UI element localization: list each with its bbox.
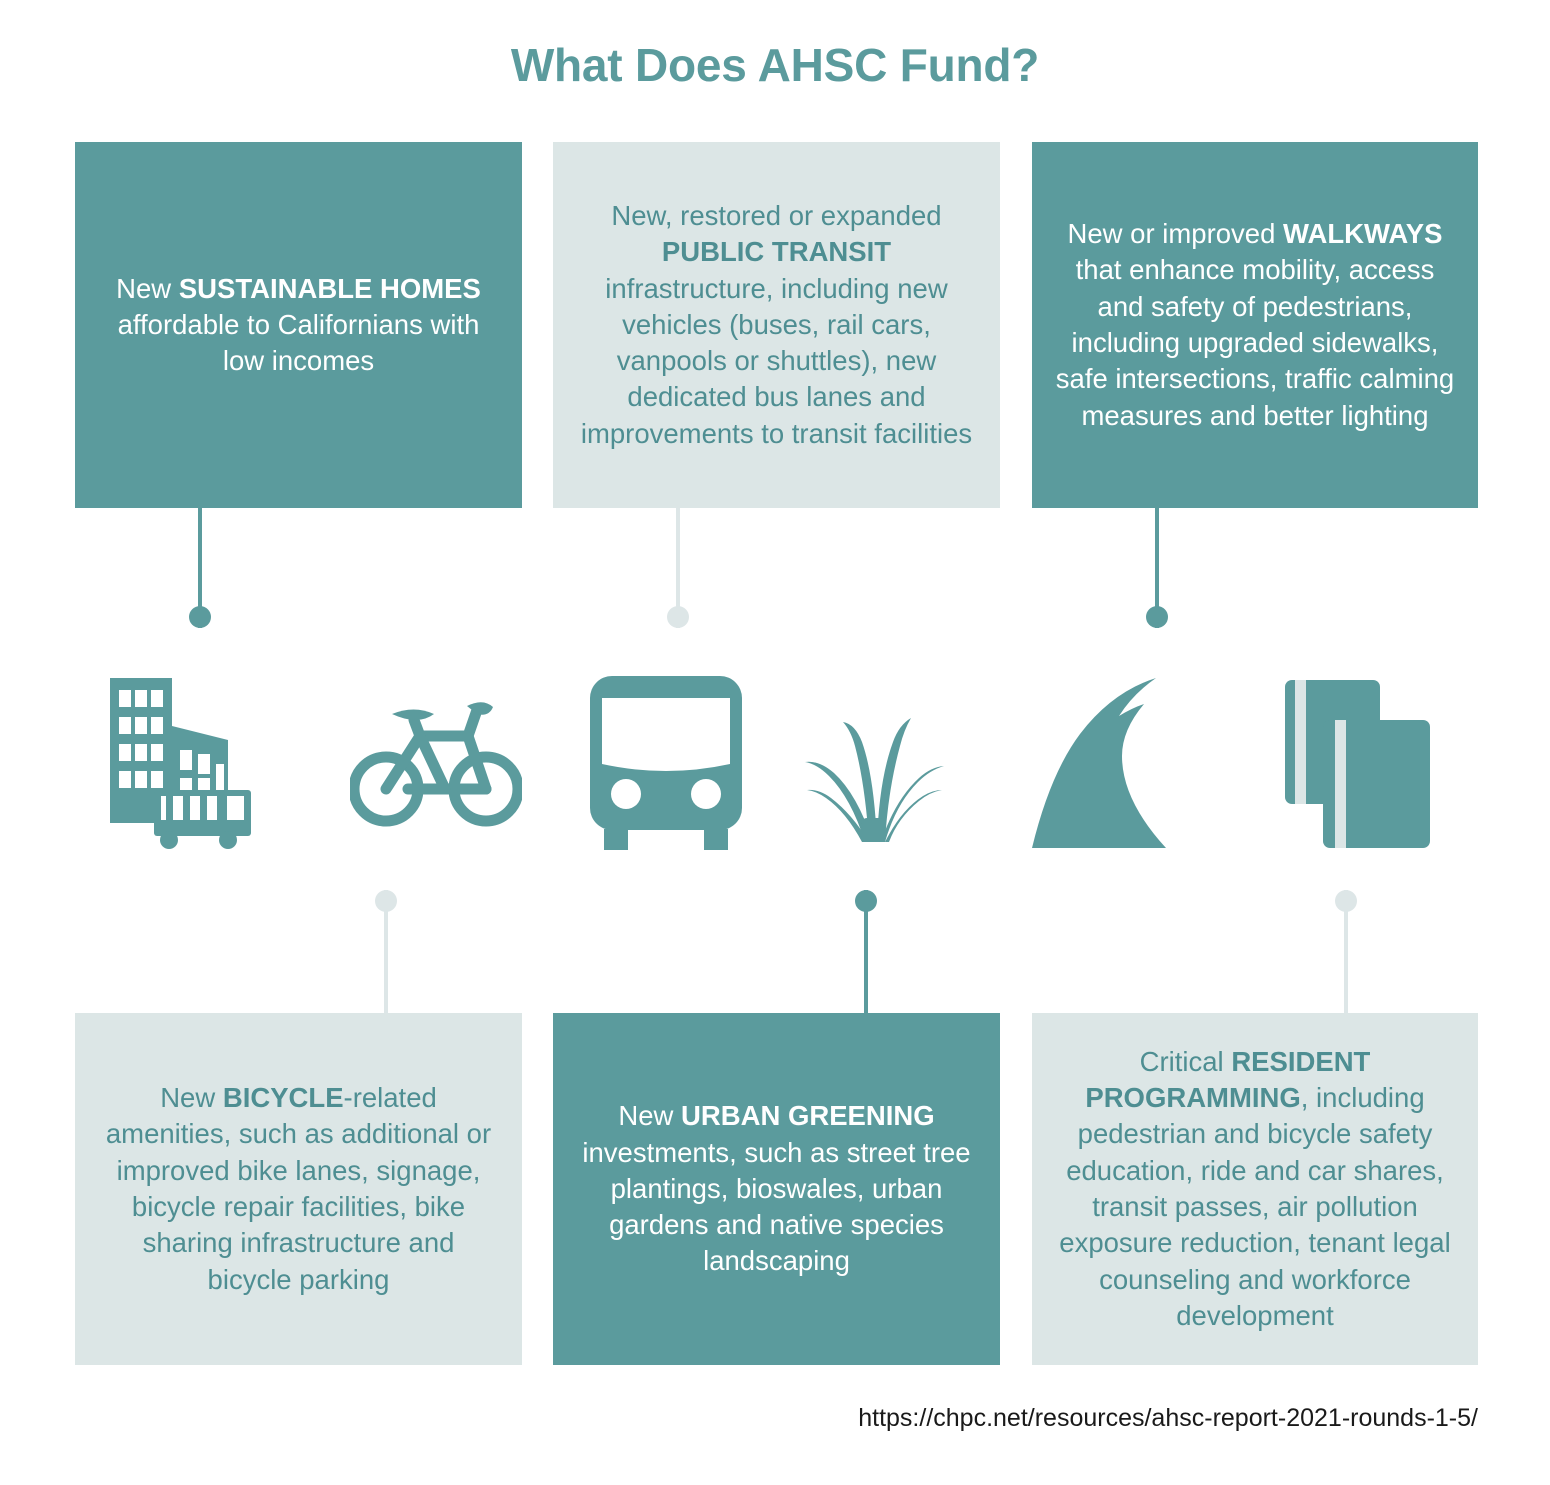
card-homes-lead: New — [116, 273, 179, 304]
card-public-transit-text: New, restored or expanded PUBLIC TRANSIT… — [575, 198, 978, 452]
connector-homes-dot — [189, 606, 211, 628]
connector-bicycle-dot — [375, 890, 397, 912]
bicycle-icon — [350, 700, 522, 828]
infographic-canvas: What Does AHSC Fund? New SUSTAINABLE HOM… — [0, 0, 1550, 1485]
grass-plant-icon — [795, 690, 950, 842]
card-sustainable-homes-text: New SUSTAINABLE HOMES affordable to Cali… — [97, 271, 500, 380]
card-sustainable-homes: New SUSTAINABLE HOMES affordable to Cali… — [75, 142, 522, 508]
card-walkways-text: New or improved WALKWAYS that enhance mo… — [1054, 216, 1456, 434]
transit-passes-icon — [1285, 680, 1430, 848]
card-walkways-keyword: WALKWAYS — [1283, 218, 1442, 249]
card-bicycle-amenities: New BICYCLE-related amenities, such as a… — [75, 1013, 522, 1365]
card-homes-keyword: SUSTAINABLE HOMES — [179, 273, 481, 304]
card-bicycle-rest: -related amenities, such as additional o… — [106, 1082, 491, 1294]
card-greening-keyword: URBAN GREENING — [681, 1100, 935, 1131]
page-title: What Does AHSC Fund? — [0, 38, 1550, 92]
card-bicycle-text: New BICYCLE-related amenities, such as a… — [97, 1080, 500, 1298]
card-greening-lead: New — [618, 1100, 681, 1131]
connector-transit-dot — [667, 606, 689, 628]
card-programming-lead: Critical — [1140, 1046, 1232, 1077]
card-urban-greening-text: New URBAN GREENING investments, such as … — [575, 1098, 978, 1279]
connector-greening-dot — [855, 890, 877, 912]
card-walkways-lead: New or improved — [1068, 218, 1284, 249]
source-url[interactable]: https://chpc.net/resources/ahsc-report-2… — [858, 1404, 1478, 1433]
card-transit-lead: New, restored or expanded — [611, 200, 941, 231]
card-greening-rest: investments, such as street tree plantin… — [582, 1137, 970, 1277]
card-bicycle-lead: New — [160, 1082, 223, 1113]
card-resident-programming: Critical RESIDENT PROGRAMMING, including… — [1032, 1013, 1478, 1365]
card-transit-rest: infrastructure, including new vehicles (… — [581, 273, 972, 449]
bus-icon — [590, 676, 742, 850]
card-urban-greening: New URBAN GREENING investments, such as … — [553, 1013, 1000, 1365]
card-programming-rest: , including pedestrian and bicycle safet… — [1059, 1082, 1450, 1331]
card-bicycle-keyword: BICYCLE — [223, 1082, 344, 1113]
card-resident-programming-text: Critical RESIDENT PROGRAMMING, including… — [1054, 1044, 1456, 1334]
connector-walkways-dot — [1146, 606, 1168, 628]
connector-programming-dot — [1335, 890, 1357, 912]
winding-road-icon — [1030, 676, 1202, 850]
card-transit-keyword: PUBLIC TRANSIT — [662, 236, 891, 267]
card-public-transit: New, restored or expanded PUBLIC TRANSIT… — [553, 142, 1000, 508]
card-walkways: New or improved WALKWAYS that enhance mo… — [1032, 142, 1478, 508]
housing-building-icon — [110, 678, 285, 850]
card-walkways-rest: that enhance mobility, access and safety… — [1056, 254, 1454, 430]
card-homes-rest: affordable to Californians with low inco… — [118, 309, 480, 376]
